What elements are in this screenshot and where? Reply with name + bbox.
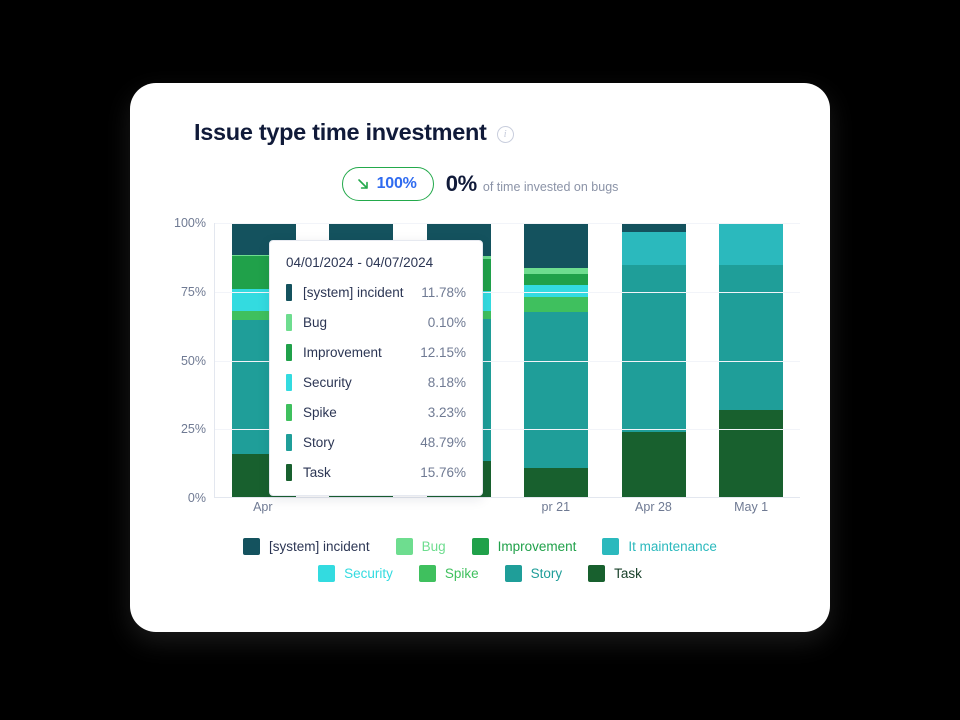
y-axis-tick: 75%	[181, 285, 206, 299]
y-axis-tick: 25%	[181, 422, 206, 436]
chart-tooltip: 04/01/2024 - 04/07/2024 [system] inciden…	[269, 240, 483, 496]
bar-segment[interactable]	[622, 232, 686, 265]
legend-row-2: SecuritySpikeStoryTask	[170, 565, 790, 582]
legend-swatch-icon	[588, 565, 605, 582]
delta-badge[interactable]: 100%	[342, 167, 434, 201]
legend-label: [system] incident	[269, 539, 370, 554]
bar-segment[interactable]	[524, 274, 588, 285]
page-title: Issue type time investment	[194, 119, 487, 146]
summary-value: 0%	[446, 171, 477, 197]
tooltip-label: [system] incident	[303, 285, 421, 300]
tooltip-swatch-icon	[286, 464, 292, 481]
tooltip-swatch-icon	[286, 314, 292, 331]
tooltip-value: 48.79%	[420, 435, 466, 450]
legend-label: Bug	[422, 539, 446, 554]
legend-swatch-icon	[396, 538, 413, 555]
bar-segment[interactable]	[524, 297, 588, 312]
tooltip-value: 12.15%	[420, 345, 466, 360]
tooltip-swatch-icon	[286, 374, 292, 391]
bar-segment[interactable]	[524, 468, 588, 497]
legend-label: Improvement	[498, 539, 577, 554]
tooltip-row: Security8.18%	[286, 374, 466, 391]
legend-swatch-icon	[505, 565, 522, 582]
summary-row: 100% 0% of time invested on bugs	[130, 167, 830, 201]
legend-label: Security	[344, 566, 393, 581]
bar-segment[interactable]	[622, 432, 686, 497]
tooltip-row: Bug0.10%	[286, 314, 466, 331]
legend-row-1: [system] incidentBugImprovementIt mainte…	[170, 538, 790, 555]
x-axis: Aprpr 21Apr 28May 1	[214, 500, 800, 514]
legend-item[interactable]: It maintenance	[602, 538, 717, 555]
tooltip-row: [system] incident11.78%	[286, 284, 466, 301]
tooltip-value: 8.18%	[428, 375, 466, 390]
tooltip-value: 0.10%	[428, 315, 466, 330]
gridline	[215, 223, 800, 224]
x-axis-tick	[328, 500, 392, 514]
tooltip-label: Improvement	[303, 345, 420, 360]
tooltip-value: 11.78%	[421, 285, 466, 300]
legend-label: Task	[614, 566, 642, 581]
bar-segment[interactable]	[524, 223, 588, 268]
x-axis-tick: May 1	[719, 500, 783, 514]
tooltip-label: Task	[303, 465, 420, 480]
legend-label: Story	[531, 566, 563, 581]
x-axis-tick: pr 21	[524, 500, 588, 514]
bar-segment[interactable]	[719, 410, 783, 497]
chart-card: Issue type time investment i 100% 0% of …	[130, 83, 830, 632]
legend-item[interactable]: Improvement	[472, 538, 577, 555]
legend-label: Spike	[445, 566, 479, 581]
tooltip-row: Task15.76%	[286, 464, 466, 481]
bar-segment[interactable]	[622, 223, 686, 232]
tooltip-label: Spike	[303, 405, 428, 420]
legend-swatch-icon	[602, 538, 619, 555]
bar-segment[interactable]	[719, 265, 783, 410]
legend-swatch-icon	[419, 565, 436, 582]
tooltip-swatch-icon	[286, 434, 292, 451]
tooltip-swatch-icon	[286, 404, 292, 421]
bar-segment[interactable]	[622, 265, 686, 432]
tooltip-row: Improvement12.15%	[286, 344, 466, 361]
legend-swatch-icon	[318, 565, 335, 582]
bar-segment[interactable]	[524, 312, 588, 468]
tooltip-row: Story48.79%	[286, 434, 466, 451]
tooltip-swatch-icon	[286, 284, 292, 301]
tooltip-date-range: 04/01/2024 - 04/07/2024	[286, 255, 466, 270]
screenshot-root: Issue type time investment i 100% 0% of …	[0, 0, 960, 720]
chart-legend: [system] incidentBugImprovementIt mainte…	[170, 538, 790, 592]
tooltip-value: 15.76%	[420, 465, 466, 480]
legend-item[interactable]: Task	[588, 565, 642, 582]
legend-item[interactable]: Story	[505, 565, 563, 582]
arrow-down-right-icon	[356, 177, 370, 191]
y-axis-tick: 50%	[181, 354, 206, 368]
tooltip-label: Security	[303, 375, 428, 390]
legend-item[interactable]: Bug	[396, 538, 446, 555]
x-axis-tick: Apr 28	[621, 500, 685, 514]
legend-item[interactable]: Security	[318, 565, 393, 582]
x-axis-tick	[426, 500, 490, 514]
y-axis-tick: 0%	[188, 491, 206, 505]
bar-segment[interactable]	[719, 223, 783, 265]
card-header: Issue type time investment i	[194, 119, 514, 146]
tooltip-label: Bug	[303, 315, 428, 330]
y-axis-tick: 100%	[174, 216, 206, 230]
legend-swatch-icon	[243, 538, 260, 555]
tooltip-value: 3.23%	[428, 405, 466, 420]
tooltip-row: Spike3.23%	[286, 404, 466, 421]
delta-value: 100%	[377, 175, 417, 193]
legend-item[interactable]: Spike	[419, 565, 479, 582]
y-axis: 0%25%50%75%100%	[160, 223, 214, 498]
summary-description: of time invested on bugs	[483, 180, 619, 194]
tooltip-swatch-icon	[286, 344, 292, 361]
legend-swatch-icon	[472, 538, 489, 555]
legend-item[interactable]: [system] incident	[243, 538, 370, 555]
tooltip-rows: [system] incident11.78%Bug0.10%Improveme…	[286, 284, 466, 481]
summary-metric: 0% of time invested on bugs	[446, 171, 619, 197]
x-axis-tick: Apr	[231, 500, 295, 514]
info-icon[interactable]: i	[497, 126, 514, 143]
tooltip-label: Story	[303, 435, 420, 450]
legend-label: It maintenance	[628, 539, 717, 554]
